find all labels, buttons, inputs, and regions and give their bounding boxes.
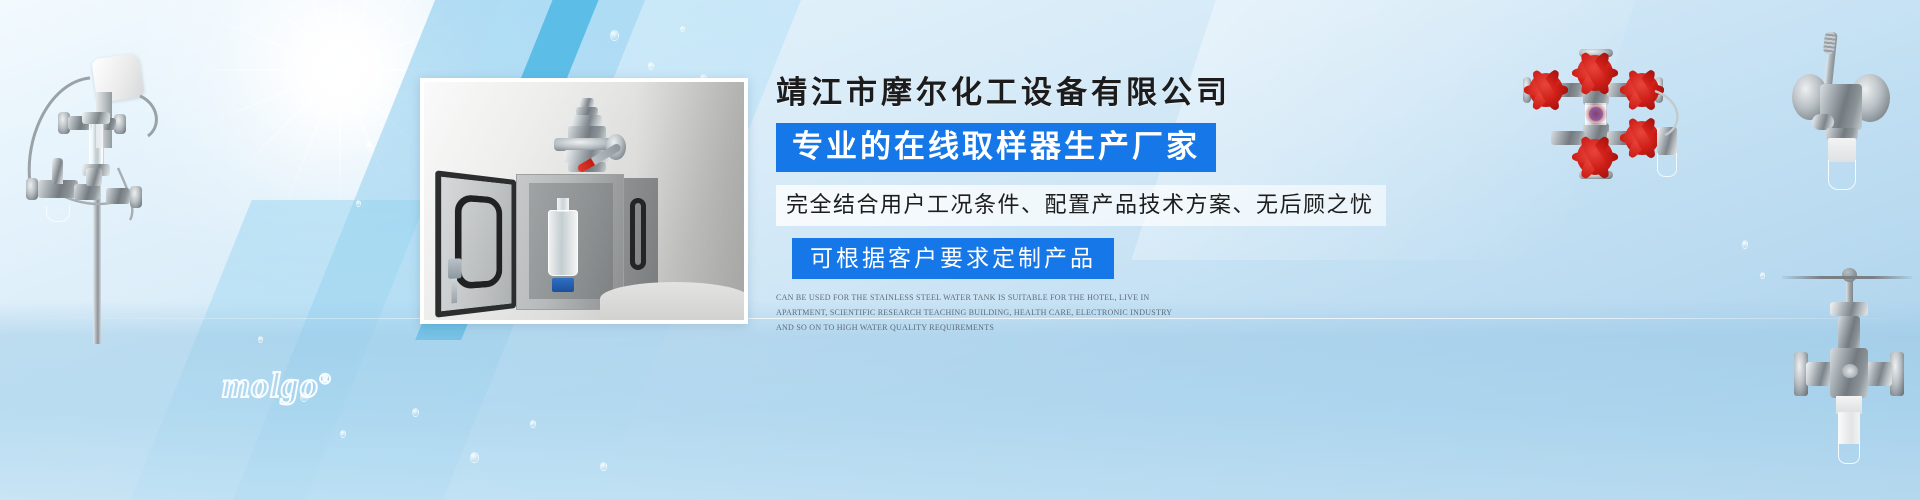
water-droplet-icon [610, 30, 619, 41]
logo-wordmark: molgo [222, 365, 319, 405]
valve-packing-gland [1830, 302, 1868, 316]
molgo-logo: molgo® [222, 364, 332, 406]
photo-blue-cap [552, 278, 574, 292]
water-droplet-icon [1760, 272, 1765, 279]
company-name: 靖江市摩尔化工设备有限公司 [776, 74, 1416, 111]
valve-body [74, 184, 100, 200]
water-droplet-icon [258, 336, 263, 343]
water-droplet-icon [412, 408, 419, 417]
water-droplet-icon [530, 420, 536, 428]
valve-flange [130, 186, 142, 208]
water-droplet-icon [340, 430, 346, 438]
red-handwheel [1577, 55, 1613, 91]
cross-valve-manifold [1505, 35, 1695, 195]
photo-sampling-valve [550, 98, 628, 182]
valve-nameplate [1842, 364, 1858, 378]
water-droplet-icon [600, 462, 607, 471]
water-droplet-icon [680, 26, 685, 32]
valve-sample-cup [1828, 138, 1856, 162]
sight-glass-tube [89, 124, 104, 164]
valve-body [106, 188, 130, 204]
valve-stem-knob-icon [1842, 268, 1857, 282]
tagline-text: 完全结合用户工况条件、配置产品技术方案、无后顾之忧 [776, 185, 1386, 226]
water-droplet-icon [470, 452, 479, 463]
red-handwheel [1529, 73, 1563, 107]
headline-banner: 专业的在线取样器生产厂家 [776, 123, 1216, 172]
sample-outlet-glass [46, 206, 70, 222]
sight-glass-top-flange [82, 112, 110, 124]
english-description: CAN BE USED FOR THE STAINLESS STEEL WATE… [776, 291, 1184, 335]
water-droplet-icon [366, 142, 373, 151]
product-photo-sampling-cabinet [420, 78, 748, 324]
valve-sample-cup [1838, 412, 1860, 444]
water-droplet-icon [648, 62, 654, 70]
valve-flange-right [1890, 352, 1904, 396]
banner-text-block: 靖江市摩尔化工设备有限公司 专业的在线取样器生产厂家 完全结合用户工况条件、配置… [776, 74, 1416, 336]
photo-pedestal [600, 282, 744, 320]
photo-door-key [452, 278, 458, 303]
water-droplet-icon [1742, 240, 1748, 249]
photo-sample-bottle [548, 210, 578, 276]
manifold-arm [1551, 131, 1585, 145]
custom-product-banner: 可根据客户要求定制产品 [792, 238, 1114, 279]
valve-sample-glass [1838, 442, 1860, 464]
valve-sample-glass [1828, 160, 1856, 190]
left-sampler-assembly [10, 28, 185, 328]
manifold-tubing [1633, 87, 1693, 147]
registered-trademark-icon: ® [319, 371, 332, 388]
bottom-sampling-valve [1790, 268, 1910, 488]
valve-pipe-right [1864, 362, 1892, 386]
valve-horizontal-bar [1782, 276, 1912, 279]
sample-port [86, 168, 102, 186]
manifold-outlet-glass [1657, 153, 1677, 177]
manifold-seal-inner-icon [1589, 107, 1603, 121]
promotional-banner: 靖江市摩尔化工设备有限公司 专业的在线取样器生产厂家 完全结合用户工况条件、配置… [0, 0, 1920, 500]
water-droplet-icon [356, 200, 361, 207]
flanged-lever-valve [1782, 28, 1912, 228]
relief-valve [52, 158, 63, 184]
valve-flange [26, 178, 38, 200]
photo-cabinet-door [435, 170, 516, 317]
red-handwheel [1577, 139, 1613, 175]
photo-door-latch [448, 258, 461, 279]
